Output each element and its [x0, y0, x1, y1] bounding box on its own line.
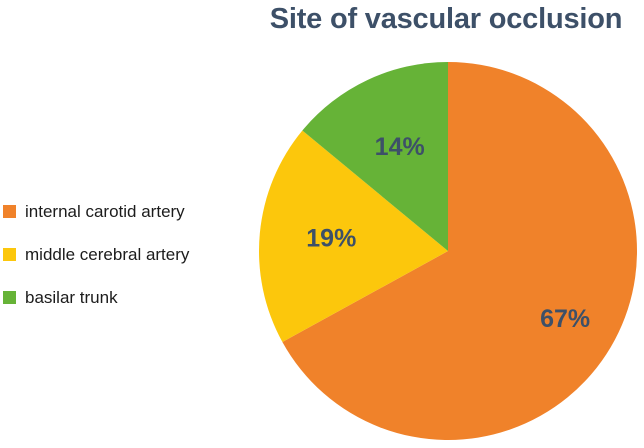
pie-chart-svg: 67% 19% 14% [0, 0, 644, 448]
pie-chart: 67% 19% 14% [0, 0, 644, 448]
slice-label-basilar-trunk: 14% [375, 133, 425, 161]
slice-label-middle-cerebral-artery: 19% [306, 225, 356, 253]
slice-label-internal-carotid-artery: 67% [540, 305, 590, 333]
chart-canvas: Site of vascular occlusion internal caro… [0, 0, 644, 448]
